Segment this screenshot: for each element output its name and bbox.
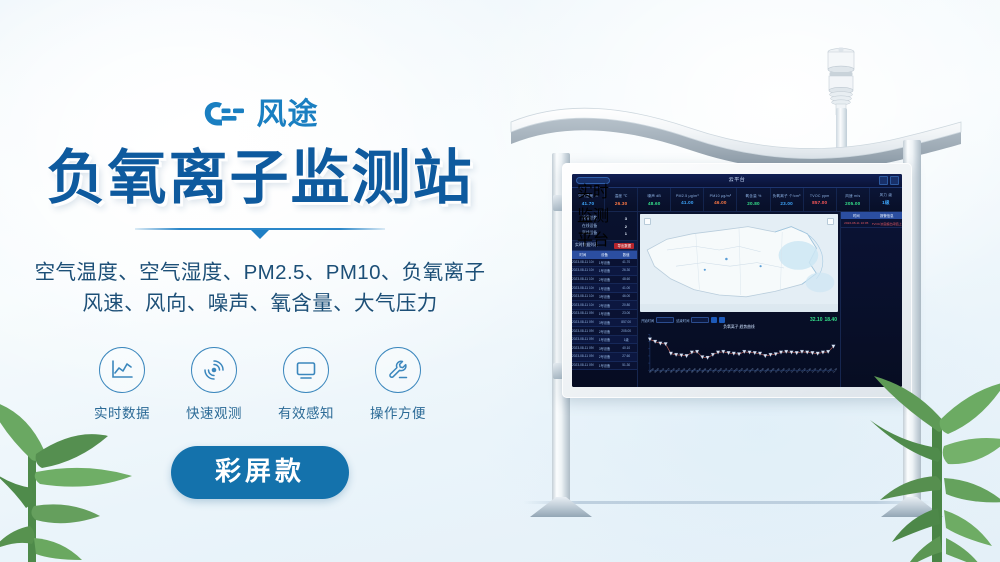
metric-value: 41.00 [681,200,694,205]
table-cell: 41.70 [615,259,637,267]
table-cell: 857.00 [615,319,637,327]
hero-content: 风途 负氧离子监测站 空气温度、空气湿度、PM2.5、PM10、负氧离子 风速、… [0,0,520,562]
dashboard-title: 云平台 [729,176,746,183]
table-row[interactable]: 2023-08-11 09:54:072号设备27.60 [572,353,637,362]
table-row[interactable]: 2023-08-11 09:58:073号设备857.00 [572,319,637,328]
metric-card[interactable]: 氧含量 %20.80 [737,188,770,211]
table-cell: 2号设备 [594,276,616,284]
table-row[interactable]: 2023-08-11 09:57:072号设备205.00 [572,327,637,336]
brand-name: 风途 [257,100,319,130]
metric-card[interactable]: 温度 ℃26.30 [605,188,638,211]
table-cell: 2023-08-11 10:00:07 [572,301,594,309]
table-cell: 1级 [615,336,637,344]
table-cell: 2023-08-11 09:57:07 [572,327,594,335]
chart-start-input[interactable] [656,317,674,323]
table-row[interactable]: 2023-08-11 10:04:071号设备26.30 [572,267,637,276]
metric-label: 风速 m/s [845,194,860,199]
metric-card[interactable]: PM2.5 μg/m³41.00 [671,188,704,211]
metric-card[interactable]: 风力 级1级 [870,188,902,211]
metric-value: 857.00 [812,200,827,205]
chart-toolbar: 开始时间 结束时间 32.10 18.40 [641,316,837,324]
table-cell: 2023-08-11 10:01:07 [572,293,594,301]
table-cell: 1号设备 [594,310,616,318]
table-cell: 205.00 [615,327,637,335]
table-cell: 2023-08-11 09:59:07 [572,310,594,318]
table-cell: 27.60 [615,353,637,361]
table-cell: 2023-08-11 09:54:07 [572,353,594,361]
base-plate-left [530,497,592,517]
feature-item-easy-operation: 操作方便 [365,347,431,422]
metric-label: 噪声 dB [647,194,661,199]
chart-stat-min: 18.40 [824,317,837,323]
chart-query-button[interactable] [711,317,717,323]
feature-item-fast-observation: 快速观测 [181,347,247,422]
poster-canvas: 风途 负氧离子监测站 空气温度、空气湿度、PM2.5、PM10、负氧离子 风速、… [0,0,1000,562]
svg-text:11:55: 11:55 [833,368,837,374]
metric-card[interactable]: 风速 m/s205.00 [837,188,870,211]
feature-label: 快速观测 [186,402,242,422]
chart-start-label: 开始时间 [641,318,654,323]
table-cell: 2023-08-11 09:53:07 [572,362,594,370]
monitor-display-icon [283,347,329,393]
data-table-columns: 时间设备数值 [572,251,637,258]
table-row[interactable]: 2023-08-11 09:59:071号设备23.00 [572,310,637,319]
table-row[interactable]: 2023-08-11 10:02:071号设备41.00 [572,284,637,293]
table-cell: 23.00 [615,310,637,318]
metric-label: PM10 μg/m³ [710,194,732,198]
stat-value: 1 [625,231,627,236]
export-data-button[interactable]: 导出数据 [614,243,634,249]
dashboard-body: 设备总数3在线设备2离线设备1 实时数据列表 导出数据 时间设备数值 2023-… [572,212,902,387]
monitoring-dashboard: 实时监测平台 云平台 空气湿度 %41.70温度 ℃26.30噪声 dB48.6… [572,174,902,387]
feature-item-realtime-data: 实时数据 [89,347,155,422]
table-cell: 2号设备 [594,301,616,309]
stat-value: 2 [625,224,627,229]
color-screen-model-button[interactable]: 彩屏款 [171,446,349,499]
table-cell: 1号设备 [594,259,616,267]
chart-end-input[interactable] [691,317,709,323]
alert-cell: 2023-08-11 10:05 [841,219,872,227]
china-map[interactable] [640,214,838,312]
trend-chart-panel: 开始时间 结束时间 32.10 18.40 [638,314,840,387]
alert-table-columns: 时间报警信息 [841,212,902,219]
alert-table-rows: 2023-08-11 10:05TVOC浓度超出阈值上限 [841,219,902,228]
feature-label: 有效感知 [278,402,334,422]
feature-list: 实时数据 快速观测 [89,347,431,422]
data-table-rows: 2023-08-11 10:05:071号设备41.702023-08-11 1… [572,259,637,388]
column-header[interactable]: 设备 [594,251,616,258]
brand-logo: 风途 [202,95,319,135]
title-divider [135,224,385,240]
monitoring-station-kiosk: 实时监测平台 云平台 空气湿度 %41.70温度 ℃26.30噪声 dB48.6… [505,45,975,525]
table-cell: 1号设备 [594,336,616,344]
table-cell: 2023-08-11 09:55:07 [572,344,594,352]
table-cell: 2023-08-11 09:58:07 [572,319,594,327]
table-row[interactable]: 2023-08-11 09:55:073号设备40.10 [572,344,637,353]
wrench-tool-icon [375,347,421,393]
column-header[interactable]: 数值 [615,251,637,258]
radar-observation-icon [191,347,237,393]
metric-label: 温度 ℃ [615,194,628,199]
alert-panel: 时间报警信息 2023-08-11 10:05TVOC浓度超出阈值上限 [840,212,902,387]
hero-subtitle: 空气温度、空气湿度、PM2.5、PM10、负氧离子 风速、风向、噪声、氧含量、大… [35,257,486,321]
chart-plot-area: 09:0009:0509:1009:1509:2009:2509:3009:35… [641,331,837,386]
table-cell: 3号设备 [594,293,616,301]
table-row[interactable]: 2023-08-11 10:01:073号设备46.00 [572,293,637,302]
stat-value: 3 [625,216,627,221]
metric-value: 1级 [882,200,890,206]
feature-item-effective-sensing: 有效感知 [273,347,339,422]
table-cell: 40.10 [615,344,637,352]
settings-gear-icon[interactable] [879,176,888,185]
table-row[interactable]: 2023-08-11 10:03:072号设备48.60 [572,276,637,285]
table-row[interactable]: 2023-08-11 10:00:072号设备20.80 [572,301,637,310]
dashboard-header: 实时监测平台 云平台 [572,174,902,188]
display-bezel: 实时监测平台 云平台 空气湿度 %41.70温度 ℃26.30噪声 dB48.6… [562,163,912,398]
table-cell: 51.30 [615,362,637,370]
divider-triangle-icon [251,230,269,239]
subtitle-line-2: 风速、风向、噪声、氧含量、大气压力 [35,288,486,320]
column-header[interactable]: 时间 [572,251,594,258]
table-row[interactable]: 2023-08-11 10:05:071号设备41.70 [572,259,637,268]
center-panel: 开始时间 结束时间 32.10 18.40 [638,212,840,387]
metric-value: 26.30 [615,201,628,206]
alert-column-header[interactable]: 报警信息 [872,212,903,219]
feature-label: 实时数据 [94,402,150,422]
table-row[interactable]: 2023-08-11 09:53:071号设备51.30 [572,362,637,371]
table-cell: 20.80 [615,301,637,309]
table-cell: 3号设备 [594,319,616,327]
header-actions [879,176,899,185]
table-cell: 2023-08-11 10:05:07 [572,259,594,267]
fengtu-g-logo-icon [202,98,248,132]
chart-refresh-button[interactable] [719,317,725,323]
table-cell: 3号设备 [594,344,616,352]
feature-label: 操作方便 [370,402,426,422]
table-cell: 26.30 [615,267,637,275]
user-avatar-icon[interactable] [890,176,899,185]
table-cell: 1号设备 [594,284,616,292]
metric-cards-row: 空气湿度 %41.70温度 ℃26.30噪声 dB48.60PM2.5 μg/m… [572,188,902,212]
table-cell: 1号设备 [594,362,616,370]
metric-label: 风力 级 [880,193,893,198]
table-row[interactable]: 2023-08-11 09:56:071号设备1级 [572,336,637,345]
table-cell: 1号设备 [594,267,616,275]
map-zoom-in-button[interactable] [644,218,651,225]
base-plate-right [881,497,943,517]
metric-card[interactable]: PM10 μg/m³46.00 [704,188,737,211]
metric-value: 23.00 [780,201,793,206]
table-cell: 2023-08-11 09:56:07 [572,336,594,344]
alert-empty-area [841,228,902,387]
display-screen: 实时监测平台 云平台 空气湿度 %41.70温度 ℃26.30噪声 dB48.6… [572,174,902,387]
table-cell: 2023-08-11 10:04:07 [572,267,594,275]
table-cell: 46.00 [615,293,637,301]
table-cell: 2023-08-11 10:03:07 [572,276,594,284]
subtitle-line-1: 空气温度、空气湿度、PM2.5、PM10、负氧离子 [35,257,486,289]
chart-title: 负氧离子 趋势曲线 [641,325,837,330]
metric-label: TVOC ppm [810,194,830,198]
table-cell: 2号设备 [594,327,616,335]
metric-value: 48.60 [648,201,661,206]
alert-row[interactable]: 2023-08-11 10:05TVOC浓度超出阈值上限 [841,219,902,228]
map-zoom-out-button[interactable] [827,218,834,225]
alert-cell: TVOC浓度超出阈值上限 [872,219,903,227]
metric-label: 负氧离子 个/cm³ [773,194,801,199]
metric-card[interactable]: TVOC ppm857.00 [804,188,837,211]
chart-stat-max: 32.10 [810,317,823,323]
metric-value: 20.80 [747,201,760,206]
metric-label: 氧含量 % [746,194,762,199]
alert-column-header[interactable]: 时间 [841,212,872,219]
metric-label: PM2.5 μg/m³ [676,194,699,198]
table-cell: 2023-08-11 10:02:07 [572,284,594,292]
table-cell: 41.00 [615,284,637,292]
metric-card[interactable]: 负氧离子 个/cm³23.00 [771,188,804,211]
line-chart-icon [99,347,145,393]
metric-card[interactable]: 噪声 dB48.60 [638,188,671,211]
metric-value: 46.00 [714,200,727,205]
metric-value: 205.00 [845,201,860,206]
chart-end-label: 结束时间 [676,318,689,323]
page-title: 负氧离子监测站 [46,147,473,210]
table-cell: 2号设备 [594,353,616,361]
platform-chip[interactable]: 实时监测平台 [576,177,610,184]
table-cell: 48.60 [615,276,637,284]
